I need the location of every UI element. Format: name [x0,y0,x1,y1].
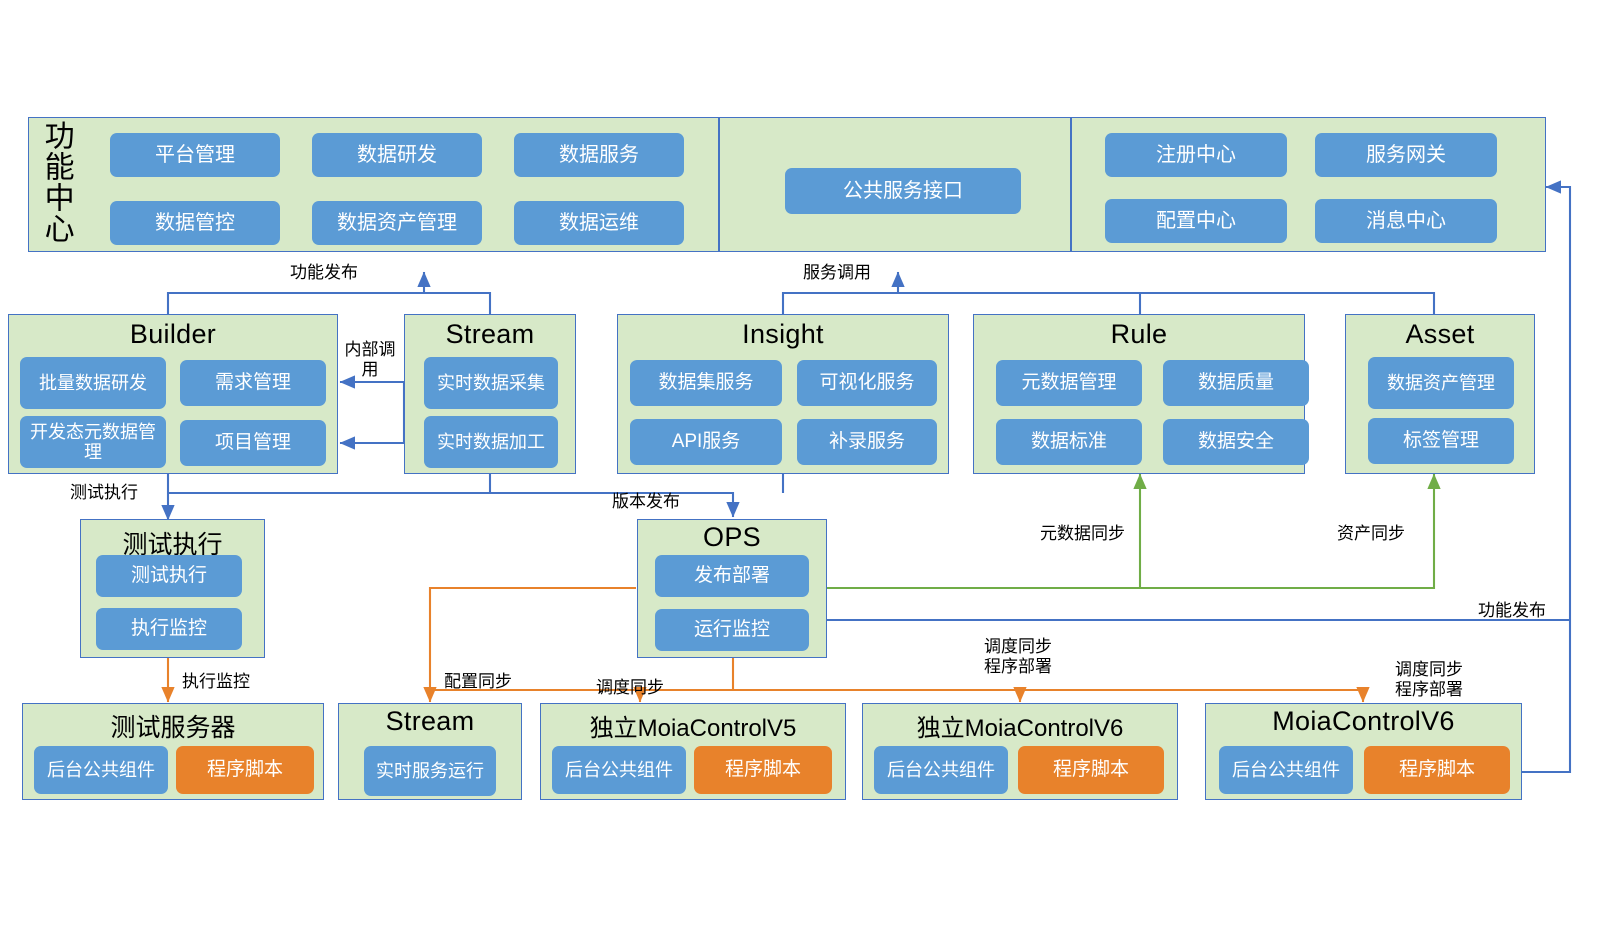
chip-runtime-monitor[interactable]: 运行监控 [655,609,809,651]
block-standalone-moiacontrolv5-title: 独立MoiaControlV5 [541,708,845,743]
chip-backend-common-component-3[interactable]: 后台公共组件 [874,746,1008,794]
chip-api-service[interactable]: API服务 [630,419,782,465]
chip-dataset-service[interactable]: 数据集服务 [630,360,782,406]
chip-backend-common-component-2[interactable]: 后台公共组件 [552,746,686,794]
edge-label-schedule-deploy-right: 调度同步 程序部署 [1374,660,1484,701]
chip-public-service-interface[interactable]: 公共服务接口 [785,168,1021,214]
module-rule-title: Rule [974,319,1304,350]
chip-backend-common-component-4[interactable]: 后台公共组件 [1219,746,1353,794]
function-center-side-label: 功能中心 [40,120,71,248]
chip-visualization-service[interactable]: 可视化服务 [797,360,937,406]
chip-program-script-2[interactable]: 程序脚本 [694,746,832,794]
chip-data-service[interactable]: 数据服务 [514,133,684,177]
chip-config-center[interactable]: 配置中心 [1105,199,1287,243]
block-standalone-moiacontrolv6-title: 独立MoiaControlV6 [863,708,1177,743]
edge-label-test-execute: 测试执行 [70,483,138,503]
chip-realtime-service-runtime[interactable]: 实时服务运行 [364,746,496,796]
architecture-diagram: 功能中心 平台管理 数据研发 数据服务 数据管控 数据资产管理 数据运维 公共服… [0,0,1611,940]
band-divider-2 [1070,118,1072,251]
edge-label-exec-monitor: 执行监控 [182,672,250,692]
block-moiacontrolv6-title: MoiaControlV6 [1206,706,1521,737]
chip-batch-data-development[interactable]: 批量数据研发 [20,357,166,409]
chip-asset-data-asset-management[interactable]: 数据资产管理 [1368,357,1514,409]
module-insight-title: Insight [618,319,948,350]
chip-program-script-4[interactable]: 程序脚本 [1364,746,1510,794]
chip-program-script-1[interactable]: 程序脚本 [176,746,314,794]
chip-supplement-service[interactable]: 补录服务 [797,419,937,465]
chip-realtime-data-collection[interactable]: 实时数据采集 [424,357,558,409]
chip-data-security[interactable]: 数据安全 [1163,419,1309,465]
chip-dev-metadata-management[interactable]: 开发态元数据管理 [20,416,166,468]
chip-data-operations[interactable]: 数据运维 [514,201,684,245]
edge-label-metadata-sync: 元数据同步 [1040,524,1125,544]
module-stream-title: Stream [405,319,575,350]
edge-label-feature-publish-right: 功能发布 [1456,601,1546,621]
chip-project-management[interactable]: 项目管理 [180,420,326,466]
edge-label-config-sync: 配置同步 [444,672,512,692]
chip-requirement-management[interactable]: 需求管理 [180,360,326,406]
edge-label-version-publish: 版本发布 [612,492,680,512]
chip-realtime-data-processing[interactable]: 实时数据加工 [424,416,558,468]
edge-label-feature-publish-top: 功能发布 [290,263,358,283]
chip-backend-common-component-1[interactable]: 后台公共组件 [34,746,168,794]
edge-label-schedule-deploy-mid: 调度同步 程序部署 [963,637,1073,678]
band-divider-1 [718,118,720,251]
block-test-server-title: 测试服务器 [23,708,323,744]
module-builder-title: Builder [9,319,337,350]
chip-data-quality[interactable]: 数据质量 [1163,360,1309,406]
chip-test-execution[interactable]: 测试执行 [96,555,242,597]
block-stream-runtime-title: Stream [339,706,521,737]
chip-service-gateway[interactable]: 服务网关 [1315,133,1497,177]
edge-label-service-call: 服务调用 [803,263,871,283]
module-asset-title: Asset [1346,319,1534,350]
chip-metadata-management[interactable]: 元数据管理 [996,360,1142,406]
block-ops-title: OPS [638,522,826,553]
chip-execution-monitor[interactable]: 执行监控 [96,608,242,650]
chip-program-script-3[interactable]: 程序脚本 [1018,746,1164,794]
chip-tag-management[interactable]: 标签管理 [1368,418,1514,464]
chip-data-governance[interactable]: 数据管控 [110,201,280,245]
chip-data-asset-management[interactable]: 数据资产管理 [312,201,482,245]
chip-data-standard[interactable]: 数据标准 [996,419,1142,465]
edge-label-internal-call: 内部调用 [344,340,396,381]
chip-platform-management[interactable]: 平台管理 [110,133,280,177]
chip-message-center[interactable]: 消息中心 [1315,199,1497,243]
edge-label-asset-sync: 资产同步 [1337,524,1405,544]
edge-label-schedule-sync: 调度同步 [596,678,664,698]
chip-data-development[interactable]: 数据研发 [312,133,482,177]
chip-registry-center[interactable]: 注册中心 [1105,133,1287,177]
chip-release-deploy[interactable]: 发布部署 [655,555,809,597]
